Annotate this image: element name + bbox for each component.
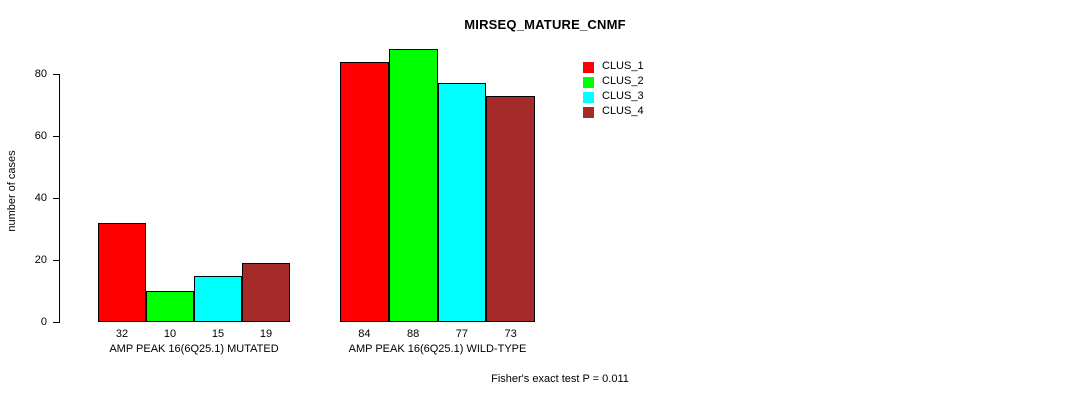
bar-value-label: 32 — [98, 329, 146, 340]
legend-item-label: CLUS_2 — [602, 75, 644, 88]
bar — [438, 83, 487, 322]
bar-value-label: 73 — [486, 329, 535, 340]
footnote-text: Fisher's exact test P = 0.011 — [450, 373, 670, 385]
legend-color-swatch — [583, 77, 594, 88]
bar — [98, 223, 146, 322]
bars-layer — [0, 0, 1090, 400]
legend-item-label: CLUS_1 — [602, 60, 644, 73]
bar-value-label: 10 — [146, 329, 194, 340]
bar — [340, 62, 389, 322]
bar-value-label: 77 — [438, 329, 487, 340]
bar — [242, 263, 290, 322]
legend-color-swatch — [583, 92, 594, 103]
bar-value-label: 84 — [340, 329, 389, 340]
bar-value-label: 19 — [242, 329, 290, 340]
legend-item-label: CLUS_3 — [602, 90, 644, 103]
bar — [194, 276, 242, 323]
bar-value-label: 15 — [194, 329, 242, 340]
x-axis-group-label: AMP PEAK 16(6Q25.1) WILD-TYPE — [288, 343, 588, 355]
bar — [389, 49, 438, 322]
bar — [486, 96, 535, 322]
chart-canvas: MIRSEQ_MATURE_CNMF 020406080 number of c… — [0, 0, 1090, 400]
bar — [146, 291, 194, 322]
bar-value-label: 88 — [389, 329, 438, 340]
legend-item-label: CLUS_4 — [602, 105, 644, 118]
legend-color-swatch — [583, 107, 594, 118]
legend-color-swatch — [583, 62, 594, 73]
